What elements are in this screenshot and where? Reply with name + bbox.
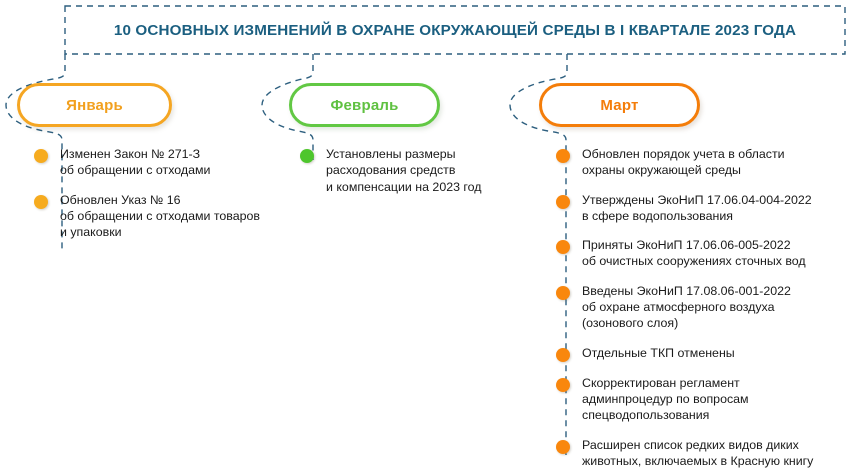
- bullet-dot-wrap: [556, 237, 582, 254]
- page-title-text: 10 ОСНОВНЫХ ИЗМЕНЕНИЙ В ОХРАНЕ ОКРУЖАЮЩЕ…: [114, 22, 796, 39]
- month-pill-february[interactable]: Февраль: [289, 83, 440, 127]
- month-pill-january-label: Январь: [66, 97, 123, 114]
- list-item-text: Отдельные ТКП отменены: [582, 345, 735, 361]
- bullet-dot-icon: [556, 149, 570, 163]
- february-item-list: Установлены размеры расходования средств…: [300, 146, 515, 195]
- bullet-dot-wrap: [556, 437, 582, 454]
- list-item-text: Изменен Закон № 271-З об обращении с отх…: [60, 146, 210, 179]
- list-item-text: Расширен список редких видов диких живот…: [582, 437, 813, 470]
- month-pill-february-label: Февраль: [330, 97, 398, 114]
- bullet-dot-wrap: [556, 192, 582, 209]
- list-item: Обновлен порядок учета в области охраны …: [556, 146, 856, 179]
- list-item: Скорректирован регламент админпроцедур п…: [556, 375, 856, 424]
- list-item: Обновлен Указ № 16 об обращении с отхода…: [34, 192, 284, 241]
- bullet-dot-wrap: [556, 283, 582, 300]
- bullet-dot-icon: [556, 348, 570, 362]
- infographic-root: 10 ОСНОВНЫХ ИЗМЕНЕНИЙ В ОХРАНЕ ОКРУЖАЮЩЕ…: [0, 0, 858, 471]
- list-item: Изменен Закон № 271-З об обращении с отх…: [34, 146, 284, 179]
- list-item: Приняты ЭкоНиП 17.06.06-005-2022 об очис…: [556, 237, 856, 270]
- list-item: Утверждены ЭкоНиП 17.06.04-004-2022 в сф…: [556, 192, 856, 225]
- list-item: Установлены размеры расходования средств…: [300, 146, 515, 195]
- month-pill-march-label: Март: [600, 97, 638, 114]
- month-pill-january[interactable]: Январь: [17, 83, 172, 127]
- bullet-dot-wrap: [556, 375, 582, 392]
- bullet-dot-icon: [556, 286, 570, 300]
- january-item-list: Изменен Закон № 271-З об обращении с отх…: [34, 146, 284, 240]
- list-item: Введены ЭкоНиП 17.08.06-001-2022 об охра…: [556, 283, 856, 332]
- bullet-dot-wrap: [556, 146, 582, 163]
- bullet-dot-icon: [556, 195, 570, 209]
- list-item-text: Обновлен Указ № 16 об обращении с отхода…: [60, 192, 260, 241]
- bullet-dot-icon: [556, 440, 570, 454]
- list-item-text: Установлены размеры расходования средств…: [326, 146, 482, 195]
- month-pill-march[interactable]: Март: [539, 83, 700, 127]
- bullet-dot-wrap: [300, 146, 326, 163]
- bullet-dot-icon: [300, 149, 314, 163]
- bullet-dot-icon: [556, 378, 570, 392]
- list-item: Расширен список редких видов диких живот…: [556, 437, 856, 470]
- bullet-dot-icon: [34, 149, 48, 163]
- list-item-text: Введены ЭкоНиП 17.08.06-001-2022 об охра…: [582, 283, 791, 332]
- march-item-list: Обновлен порядок учета в области охраны …: [556, 146, 856, 469]
- list-item-text: Скорректирован регламент админпроцедур п…: [582, 375, 749, 424]
- page-title: 10 ОСНОВНЫХ ИЗМЕНЕНИЙ В ОХРАНЕ ОКРУЖАЮЩЕ…: [65, 6, 845, 54]
- bullet-dot-wrap: [34, 146, 60, 163]
- list-item-text: Утверждены ЭкоНиП 17.06.04-004-2022 в сф…: [582, 192, 812, 225]
- bullet-dot-wrap: [34, 192, 60, 209]
- bullet-dot-icon: [556, 240, 570, 254]
- bullet-dot-icon: [34, 195, 48, 209]
- list-item: Отдельные ТКП отменены: [556, 345, 856, 362]
- bullet-dot-wrap: [556, 345, 582, 362]
- list-item-text: Приняты ЭкоНиП 17.06.06-005-2022 об очис…: [582, 237, 806, 270]
- list-item-text: Обновлен порядок учета в области охраны …: [582, 146, 785, 179]
